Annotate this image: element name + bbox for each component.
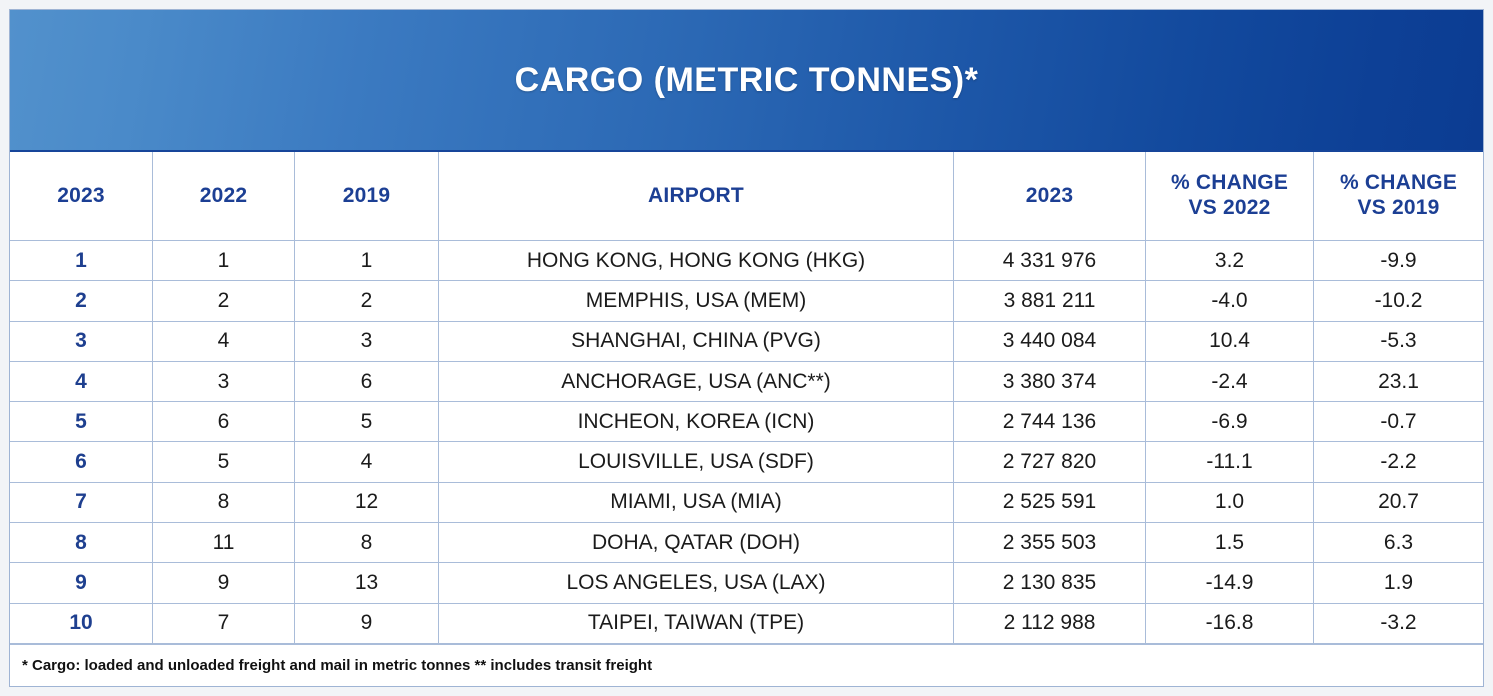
cell-rank-2023: 8 xyxy=(10,523,153,562)
cell-rank-2022: 7 xyxy=(153,604,295,643)
change-vs-2022-value: -11.1 xyxy=(1206,450,1252,474)
cargo-table-container: CARGO (METRIC TONNES)* 2023 2022 2019 AI… xyxy=(9,9,1484,687)
cell-rank-2019: 2 xyxy=(295,281,439,320)
cell-change-vs-2019: -2.2 xyxy=(1314,442,1483,481)
table-row[interactable]: 1 1 1 HONG KONG, HONG KONG (HKG) 4 331 9… xyxy=(10,241,1483,281)
column-header-cargo-2023[interactable]: 2023 xyxy=(954,152,1146,240)
cell-rank-2019: 8 xyxy=(295,523,439,562)
cell-rank-2019: 9 xyxy=(295,604,439,643)
rank-2019-value: 4 xyxy=(361,450,373,474)
footnote-text: * Cargo: loaded and unloaded freight and… xyxy=(10,657,652,674)
cell-rank-2023: 5 xyxy=(10,402,153,441)
rank-2019-value: 1 xyxy=(361,249,373,273)
airport-name: MEMPHIS, USA (MEM) xyxy=(586,289,807,313)
cell-airport: LOS ANGELES, USA (LAX) xyxy=(439,563,954,602)
rank-2022-value: 1 xyxy=(218,249,230,273)
cell-rank-2022: 6 xyxy=(153,402,295,441)
title-banner: CARGO (METRIC TONNES)* xyxy=(10,10,1483,150)
cell-change-vs-2019: 1.9 xyxy=(1314,563,1483,602)
change-vs-2019-value: -10.2 xyxy=(1375,289,1423,313)
airport-name: SHANGHAI, CHINA (PVG) xyxy=(571,329,821,353)
rank-2019-value: 3 xyxy=(361,329,373,353)
cargo-2023-value: 3 440 084 xyxy=(1003,329,1096,353)
cell-airport: DOHA, QATAR (DOH) xyxy=(439,523,954,562)
cell-rank-2023: 4 xyxy=(10,362,153,401)
rank-2022-value: 5 xyxy=(218,450,230,474)
change-vs-2022-value: -14.9 xyxy=(1206,571,1254,595)
change-vs-2022-value: -4.0 xyxy=(1211,289,1247,313)
cargo-2023-value: 2 744 136 xyxy=(1003,410,1096,434)
cell-rank-2022: 3 xyxy=(153,362,295,401)
cell-change-vs-2019: -10.2 xyxy=(1314,281,1483,320)
table-row[interactable]: 6 5 4 LOUISVILLE, USA (SDF) 2 727 820 -1… xyxy=(10,442,1483,482)
cell-rank-2019: 1 xyxy=(295,241,439,280)
cargo-2023-value: 2 727 820 xyxy=(1003,450,1096,474)
column-header-change-vs-2022-line2: VS 2022 xyxy=(1189,196,1271,221)
cargo-2023-value: 3 881 211 xyxy=(1004,289,1096,313)
cell-cargo-2023: 2 525 591 xyxy=(954,483,1146,522)
cargo-2023-value: 2 112 988 xyxy=(1004,611,1096,635)
rank-2019-value: 6 xyxy=(361,370,373,394)
cell-rank-2022: 5 xyxy=(153,442,295,481)
column-header-change-vs-2019-line1: % CHANGE xyxy=(1340,171,1457,196)
cell-change-vs-2022: -11.1 xyxy=(1146,442,1314,481)
rank-2022-value: 9 xyxy=(218,571,230,595)
cell-change-vs-2022: 1.5 xyxy=(1146,523,1314,562)
rank-2023-value: 9 xyxy=(75,571,87,595)
column-header-change-vs-2019-line2: VS 2019 xyxy=(1358,196,1440,221)
cell-cargo-2023: 2 727 820 xyxy=(954,442,1146,481)
cell-rank-2022: 4 xyxy=(153,322,295,361)
cell-rank-2023: 9 xyxy=(10,563,153,602)
rank-2022-value: 11 xyxy=(213,531,235,555)
cargo-2023-value: 2 355 503 xyxy=(1003,531,1096,555)
cell-change-vs-2022: -4.0 xyxy=(1146,281,1314,320)
change-vs-2019-value: 6.3 xyxy=(1384,531,1413,555)
column-header-rank-2019[interactable]: 2019 xyxy=(295,152,439,240)
change-vs-2019-value: -2.2 xyxy=(1380,450,1416,474)
airport-name: INCHEON, KOREA (ICN) xyxy=(578,410,815,434)
rank-2023-value: 5 xyxy=(75,410,87,434)
footnote-row: * Cargo: loaded and unloaded freight and… xyxy=(10,644,1483,686)
cell-airport: LOUISVILLE, USA (SDF) xyxy=(439,442,954,481)
page-title: CARGO (METRIC TONNES)* xyxy=(515,61,979,100)
cargo-2023-value: 4 331 976 xyxy=(1003,249,1096,273)
cell-rank-2023: 6 xyxy=(10,442,153,481)
column-header-change-vs-2022-line1: % CHANGE xyxy=(1171,171,1288,196)
cargo-table: 2023 2022 2019 AIRPORT 2023 % CHANGE VS … xyxy=(10,150,1483,644)
cell-rank-2019: 6 xyxy=(295,362,439,401)
rank-2023-value: 7 xyxy=(75,490,87,514)
rank-2019-value: 5 xyxy=(361,410,373,434)
cell-change-vs-2019: -5.3 xyxy=(1314,322,1483,361)
cargo-ranking-page: CARGO (METRIC TONNES)* 2023 2022 2019 AI… xyxy=(0,0,1493,696)
table-row[interactable]: 2 2 2 MEMPHIS, USA (MEM) 3 881 211 -4.0 … xyxy=(10,281,1483,321)
cell-cargo-2023: 3 881 211 xyxy=(954,281,1146,320)
cell-change-vs-2019: -3.2 xyxy=(1314,604,1483,643)
change-vs-2019-value: -3.2 xyxy=(1380,611,1416,635)
rank-2022-value: 6 xyxy=(218,410,230,434)
table-row[interactable]: 8 11 8 DOHA, QATAR (DOH) 2 355 503 1.5 6… xyxy=(10,523,1483,563)
cell-rank-2023: 7 xyxy=(10,483,153,522)
cell-rank-2019: 5 xyxy=(295,402,439,441)
cell-rank-2019: 12 xyxy=(295,483,439,522)
cell-change-vs-2019: -0.7 xyxy=(1314,402,1483,441)
cargo-2023-value: 2 130 835 xyxy=(1003,571,1096,595)
cell-change-vs-2022: -14.9 xyxy=(1146,563,1314,602)
change-vs-2019-value: -9.9 xyxy=(1380,249,1416,273)
table-header-row: 2023 2022 2019 AIRPORT 2023 % CHANGE VS … xyxy=(10,152,1483,241)
cell-cargo-2023: 2 744 136 xyxy=(954,402,1146,441)
cell-change-vs-2022: -16.8 xyxy=(1146,604,1314,643)
cell-cargo-2023: 2 355 503 xyxy=(954,523,1146,562)
change-vs-2019-value: -0.7 xyxy=(1380,410,1416,434)
cell-change-vs-2022: -2.4 xyxy=(1146,362,1314,401)
airport-name: HONG KONG, HONG KONG (HKG) xyxy=(527,249,865,273)
rank-2023-value: 6 xyxy=(75,450,87,474)
rank-2022-value: 2 xyxy=(218,289,230,313)
cell-change-vs-2022: 1.0 xyxy=(1146,483,1314,522)
cell-airport: ANCHORAGE, USA (ANC**) xyxy=(439,362,954,401)
column-header-rank-2022[interactable]: 2022 xyxy=(153,152,295,240)
column-header-airport[interactable]: AIRPORT xyxy=(439,152,954,240)
airport-name: LOUISVILLE, USA (SDF) xyxy=(578,450,814,474)
rank-2023-value: 10 xyxy=(69,611,92,635)
cell-rank-2023: 1 xyxy=(10,241,153,280)
cell-change-vs-2019: 23.1 xyxy=(1314,362,1483,401)
rank-2022-value: 8 xyxy=(218,490,230,514)
cell-rank-2023: 3 xyxy=(10,322,153,361)
table-row[interactable]: 5 6 5 INCHEON, KOREA (ICN) 2 744 136 -6.… xyxy=(10,402,1483,442)
column-header-change-vs-2022[interactable]: % CHANGE VS 2022 xyxy=(1146,152,1314,240)
change-vs-2022-value: -16.8 xyxy=(1206,611,1254,635)
cell-rank-2022: 9 xyxy=(153,563,295,602)
rank-2023-value: 1 xyxy=(75,249,87,273)
rank-2019-value: 12 xyxy=(355,490,378,514)
cell-rank-2019: 13 xyxy=(295,563,439,602)
rank-2019-value: 13 xyxy=(355,571,378,595)
change-vs-2019-value: 23.1 xyxy=(1378,370,1419,394)
column-header-rank-2023[interactable]: 2023 xyxy=(10,152,153,240)
cargo-2023-value: 2 525 591 xyxy=(1003,490,1096,514)
change-vs-2022-value: 10.4 xyxy=(1209,329,1250,353)
table-row[interactable]: 7 8 12 MIAMI, USA (MIA) 2 525 591 1.0 20… xyxy=(10,483,1483,523)
cell-rank-2019: 4 xyxy=(295,442,439,481)
change-vs-2022-value: -2.4 xyxy=(1211,370,1247,394)
rank-2023-value: 4 xyxy=(75,370,87,394)
change-vs-2022-value: 1.5 xyxy=(1215,531,1244,555)
cell-cargo-2023: 3 440 084 xyxy=(954,322,1146,361)
cell-airport: TAIPEI, TAIWAN (TPE) xyxy=(439,604,954,643)
cell-change-vs-2019: 20.7 xyxy=(1314,483,1483,522)
table-row[interactable]: 10 7 9 TAIPEI, TAIWAN (TPE) 2 112 988 -1… xyxy=(10,604,1483,644)
airport-name: DOHA, QATAR (DOH) xyxy=(592,531,800,555)
rank-2019-value: 2 xyxy=(361,289,373,313)
cell-change-vs-2022: 10.4 xyxy=(1146,322,1314,361)
cell-airport: HONG KONG, HONG KONG (HKG) xyxy=(439,241,954,280)
rank-2023-value: 3 xyxy=(75,329,87,353)
cell-rank-2019: 3 xyxy=(295,322,439,361)
cell-cargo-2023: 2 130 835 xyxy=(954,563,1146,602)
cell-cargo-2023: 4 331 976 xyxy=(954,241,1146,280)
cell-change-vs-2022: 3.2 xyxy=(1146,241,1314,280)
rank-2022-value: 4 xyxy=(218,329,230,353)
rank-2022-value: 3 xyxy=(218,370,230,394)
change-vs-2019-value: 20.7 xyxy=(1378,490,1419,514)
column-header-change-vs-2019[interactable]: % CHANGE VS 2019 xyxy=(1314,152,1483,240)
cell-rank-2023: 10 xyxy=(10,604,153,643)
cell-airport: SHANGHAI, CHINA (PVG) xyxy=(439,322,954,361)
airport-name: LOS ANGELES, USA (LAX) xyxy=(566,571,825,595)
cell-rank-2022: 1 xyxy=(153,241,295,280)
change-vs-2022-value: -6.9 xyxy=(1211,410,1247,434)
cell-change-vs-2019: 6.3 xyxy=(1314,523,1483,562)
table-row[interactable]: 3 4 3 SHANGHAI, CHINA (PVG) 3 440 084 10… xyxy=(10,322,1483,362)
change-vs-2022-value: 3.2 xyxy=(1215,249,1244,273)
table-row[interactable]: 4 3 6 ANCHORAGE, USA (ANC**) 3 380 374 -… xyxy=(10,362,1483,402)
airport-name: MIAMI, USA (MIA) xyxy=(610,490,782,514)
rank-2022-value: 7 xyxy=(218,611,230,635)
cell-cargo-2023: 2 112 988 xyxy=(954,604,1146,643)
cell-change-vs-2019: -9.9 xyxy=(1314,241,1483,280)
change-vs-2022-value: 1.0 xyxy=(1215,490,1244,514)
cell-rank-2022: 2 xyxy=(153,281,295,320)
change-vs-2019-value: -5.3 xyxy=(1380,329,1416,353)
cell-change-vs-2022: -6.9 xyxy=(1146,402,1314,441)
airport-name: TAIPEI, TAIWAN (TPE) xyxy=(588,611,804,635)
change-vs-2019-value: 1.9 xyxy=(1384,571,1413,595)
cell-rank-2022: 8 xyxy=(153,483,295,522)
rank-2023-value: 2 xyxy=(75,289,87,313)
rank-2023-value: 8 xyxy=(75,531,87,555)
cell-cargo-2023: 3 380 374 xyxy=(954,362,1146,401)
rank-2019-value: 8 xyxy=(361,531,373,555)
cell-airport: MEMPHIS, USA (MEM) xyxy=(439,281,954,320)
airport-name: ANCHORAGE, USA (ANC**) xyxy=(561,370,831,394)
table-row[interactable]: 9 9 13 LOS ANGELES, USA (LAX) 2 130 835 … xyxy=(10,563,1483,603)
cargo-2023-value: 3 380 374 xyxy=(1003,370,1096,394)
cell-airport: INCHEON, KOREA (ICN) xyxy=(439,402,954,441)
cell-rank-2023: 2 xyxy=(10,281,153,320)
cell-airport: MIAMI, USA (MIA) xyxy=(439,483,954,522)
rank-2019-value: 9 xyxy=(361,611,373,635)
cell-rank-2022: 11 xyxy=(153,523,295,562)
